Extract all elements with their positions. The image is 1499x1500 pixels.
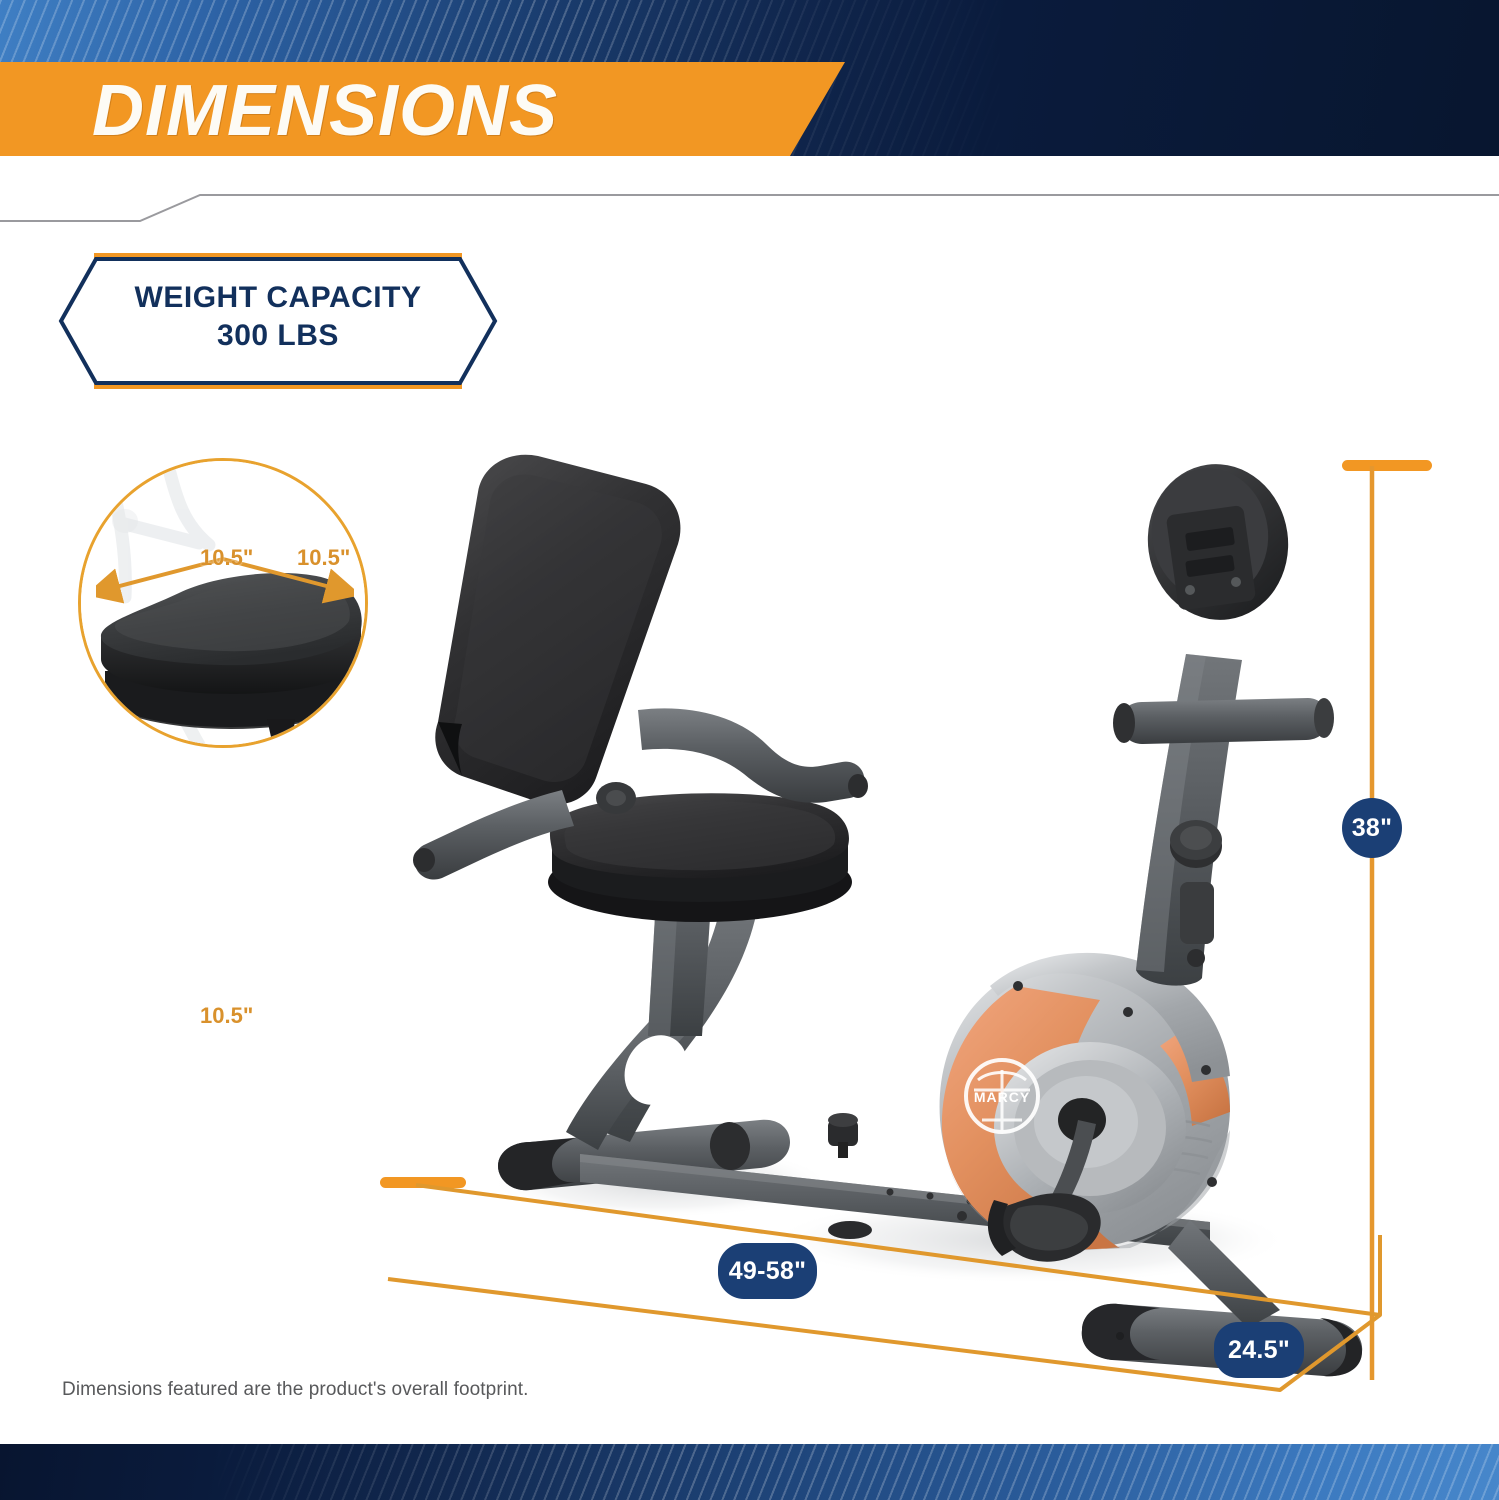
footnote-text: Dimensions featured are the product's ov…	[62, 1379, 529, 1401]
seat-cushion	[548, 793, 852, 922]
backrest	[435, 455, 680, 805]
handlebar-post	[1113, 654, 1334, 986]
seat-detail-inset: 10.5"	[78, 458, 368, 748]
weight-capacity-text: WEIGHT CAPACITY 300 LBS	[58, 279, 498, 355]
footer-stripe-pattern	[210, 1444, 1499, 1500]
tension-knob	[1170, 820, 1222, 868]
weight-capacity-line1: WEIGHT CAPACITY	[58, 279, 498, 317]
page-title: DIMENSIONS	[92, 72, 558, 150]
weight-capacity-badge: WEIGHT CAPACITY 300 LBS	[58, 253, 498, 389]
footer-banner	[0, 1444, 1499, 1500]
length-dimension-badge: 49-58"	[718, 1243, 817, 1299]
brand-logo: MARCY	[966, 1060, 1038, 1132]
height-dimension-badge: 38"	[1342, 798, 1402, 858]
width-dimension-badge: 24.5"	[1214, 1322, 1304, 1378]
footprint-outline	[380, 1175, 1460, 1415]
seat-width-label-left-outer: 10.5"	[200, 545, 253, 571]
header-step-outline	[0, 190, 1499, 226]
console-display	[1138, 455, 1298, 629]
weight-capacity-line2: 300 LBS	[58, 317, 498, 355]
svg-text:MARCY: MARCY	[974, 1089, 1030, 1105]
rail-adjust-knob	[828, 1113, 858, 1158]
infographic-page: DIMENSIONS WEIGHT CAPACITY 300 LBS	[0, 0, 1499, 1500]
seat-width-label-left: 10.5"	[200, 1003, 253, 1029]
